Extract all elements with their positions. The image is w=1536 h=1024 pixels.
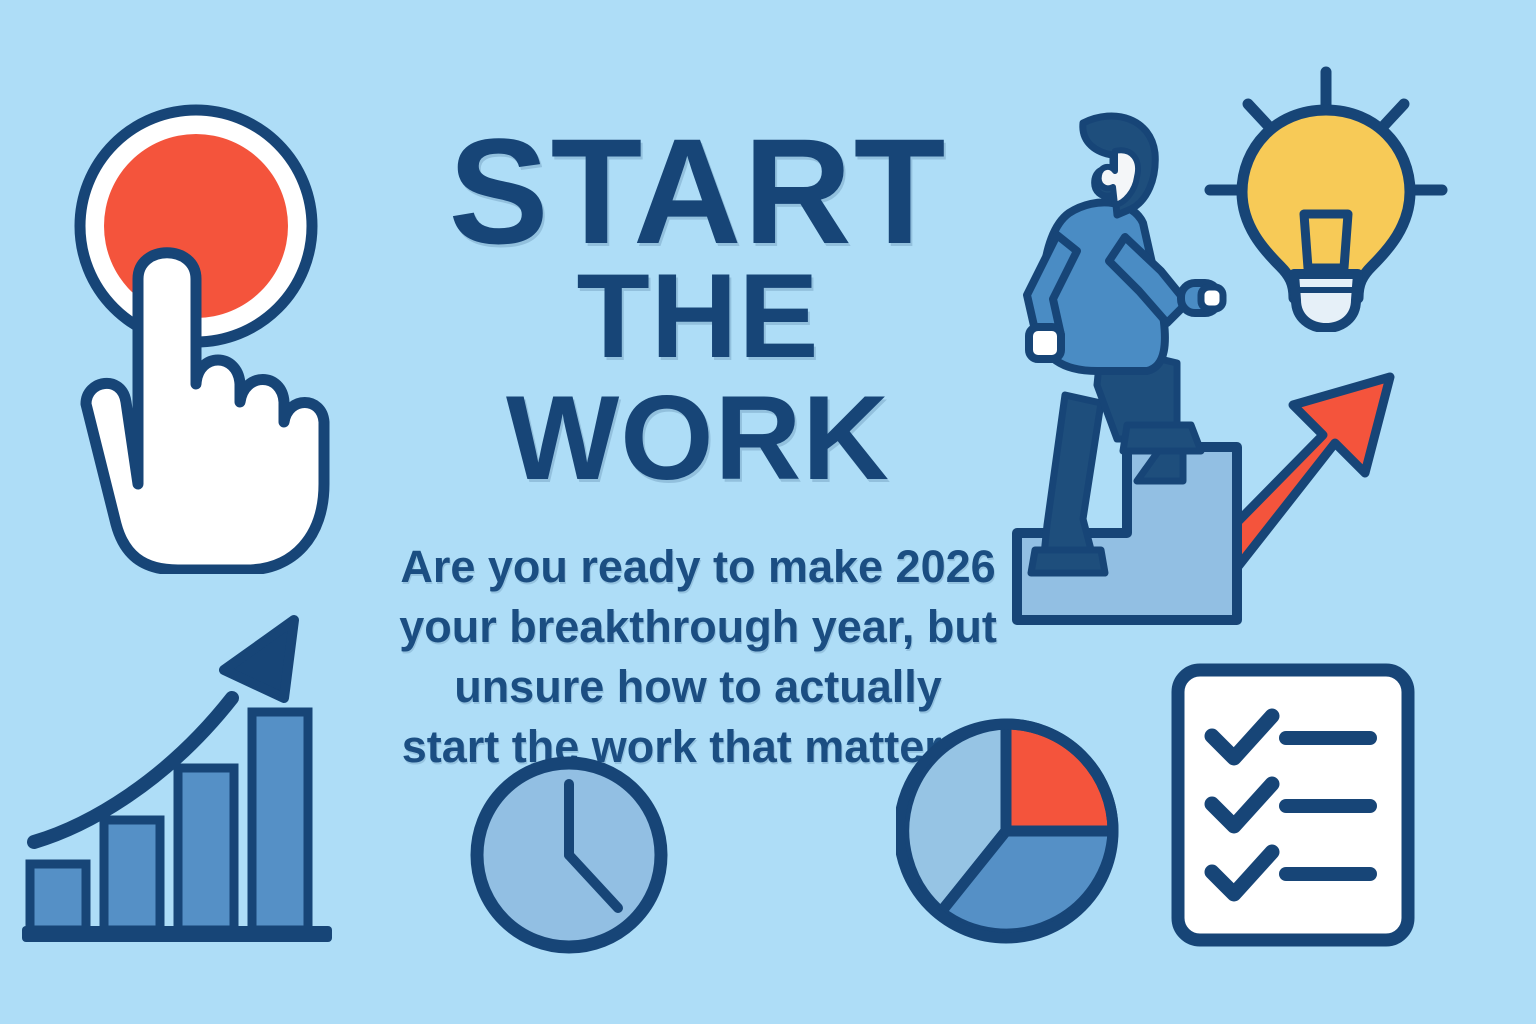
page-title-line-1: START: [368, 120, 1028, 263]
checklist-card-icon: [1168, 660, 1418, 950]
bulb-base: [1294, 274, 1358, 328]
person-back-shoe: [1031, 550, 1105, 573]
bar-chart-growth-icon: [18, 612, 348, 960]
chart-baseline: [22, 926, 332, 942]
growth-arrowhead: [224, 620, 294, 698]
bar-1: [30, 864, 86, 930]
subtitle-line-1: Are you ready to make 2026: [368, 537, 1028, 597]
page-title-line-2: THE WORK: [368, 255, 1028, 500]
person-front-shoe: [1123, 425, 1201, 451]
bar-3: [178, 768, 234, 930]
clock-icon: [466, 752, 672, 958]
lightbulb-icon: [1200, 62, 1452, 332]
poster-canvas: START THE WORK Are you ready to make 202…: [0, 0, 1536, 1024]
hand-click-button-icon: [46, 84, 346, 574]
bar-2: [104, 820, 160, 930]
subtitle-line-2: your breakthrough year, but: [368, 597, 1028, 657]
pie-chart-icon: [896, 714, 1120, 948]
subtitle-line-3: unsure how to actually: [368, 657, 1028, 717]
bar-4: [252, 712, 308, 930]
headline-block: START THE WORK Are you ready to make 202…: [368, 120, 1028, 777]
person-back-hand: [1029, 327, 1061, 359]
